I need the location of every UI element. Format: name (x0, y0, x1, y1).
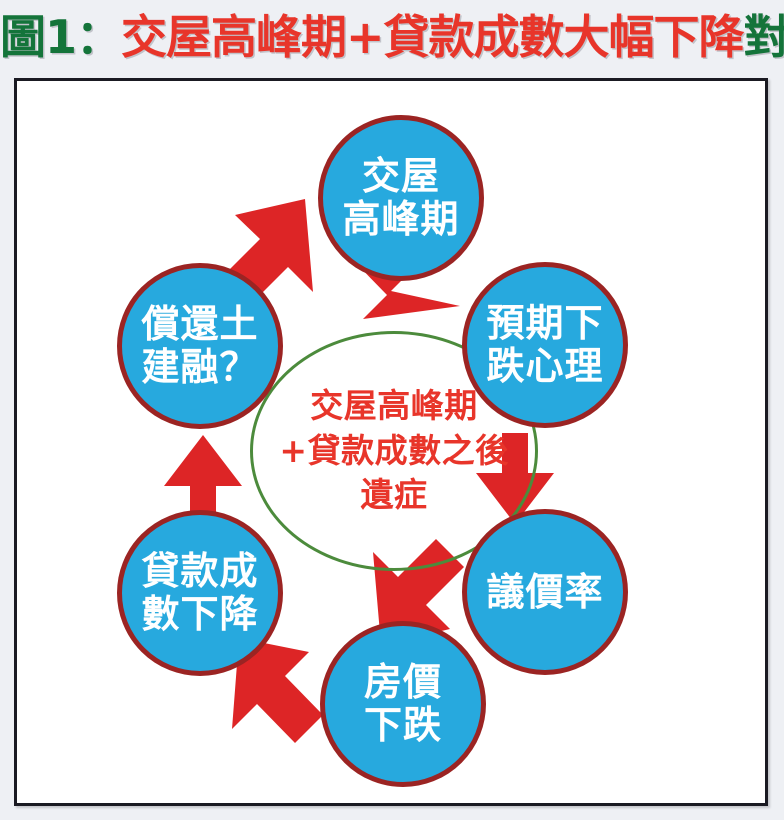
node-price-drop-label: 房價 下跌 (364, 661, 442, 746)
center-label: 交屋高峰期 +貸款成數之後 遺症 (279, 384, 508, 518)
diagram-frame: 交屋高峰期 +貸款成數之後 遺症 交屋 高峰期 預期下 跌心理 議價率 房價 下… (14, 78, 768, 806)
title-segment-cause: 交屋高峰期+貸款成數大幅下降 (121, 14, 744, 60)
node-expectation[interactable]: 預期下 跌心理 (462, 262, 628, 428)
node-bargaining-rate-label: 議價率 (486, 571, 603, 614)
node-loan-ratio-drop-label: 貸款成 數下降 (141, 550, 258, 635)
node-peak[interactable]: 交屋 高峰期 (318, 115, 484, 281)
node-repayment-label: 償還土 建融？ (141, 303, 258, 388)
title-segment-prefix: 圖1： (0, 14, 121, 60)
node-repayment[interactable]: 償還土 建融？ (117, 263, 283, 429)
figure-title: 圖1： 交屋高峰期+貸款成數大幅下降 對 償還土建融 之影響 (0, 0, 784, 74)
node-price-drop[interactable]: 房價 下跌 (320, 621, 486, 787)
node-peak-label: 交屋 高峰期 (342, 155, 459, 240)
node-bargaining-rate[interactable]: 議價率 (462, 509, 628, 675)
title-segment-relation: 對 (744, 14, 784, 60)
node-loan-ratio-drop[interactable]: 貸款成 數下降 (117, 510, 283, 676)
node-expectation-label: 預期下 跌心理 (486, 302, 603, 387)
